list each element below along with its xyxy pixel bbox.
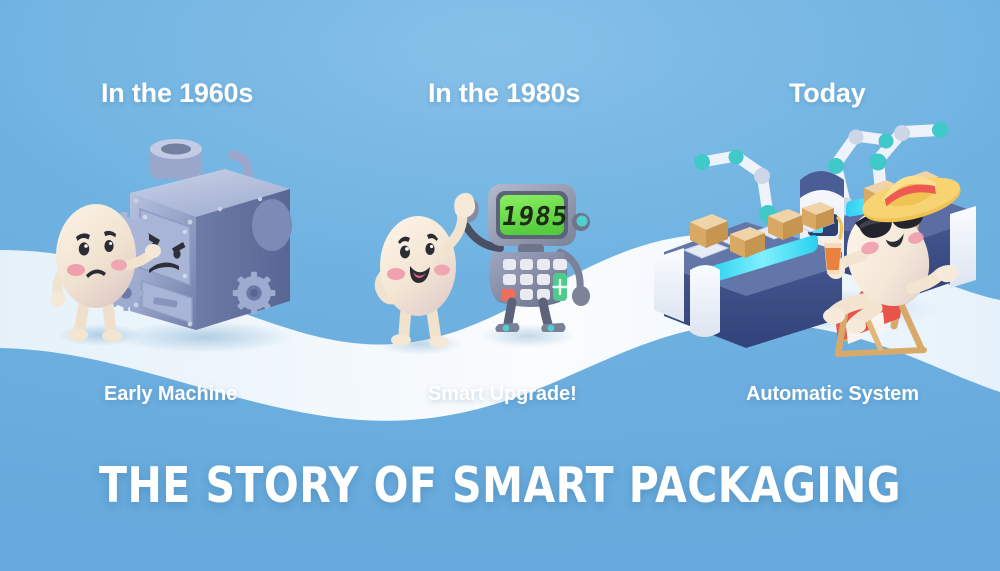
calculator-robot: 1985 [458, 184, 590, 332]
main-title: THE STORY OF SMART PACKAGING [35, 457, 965, 514]
poster-canvas: 1985 [0, 0, 1000, 571]
scene-smart-upgrade: 1985 [360, 160, 630, 375]
gear-icon [233, 272, 276, 315]
scene-automatic-system [650, 110, 990, 370]
egg-character-happy [379, 193, 475, 348]
cheek [434, 265, 450, 276]
robot-screen-value: 1985 [500, 202, 571, 232]
egg-raised-arm [448, 214, 462, 246]
chair-leg [838, 350, 924, 354]
cheek [67, 264, 85, 276]
egg-shadow [378, 333, 462, 355]
robot-head: 1985 [488, 184, 590, 246]
machine-side-drum [252, 199, 292, 251]
robot-arm-icon [694, 150, 777, 224]
egg-body [56, 204, 136, 308]
robot-green-key [553, 273, 567, 301]
era-label-1980s: In the 1980s [428, 78, 580, 109]
robot-body-keypad [489, 252, 567, 307]
scene-early-machine [20, 125, 320, 365]
caption-smart-upgrade: Smart Upgrade! [428, 383, 577, 406]
caption-automatic-system: Automatic System [746, 383, 919, 406]
era-label-1960s: In the 1960s [101, 78, 253, 109]
cheek [387, 268, 405, 280]
caption-early-machine: Early Machine [104, 383, 237, 406]
era-label-today: Today [789, 78, 866, 109]
smokestack-icon [150, 139, 202, 179]
cheek [111, 260, 127, 271]
